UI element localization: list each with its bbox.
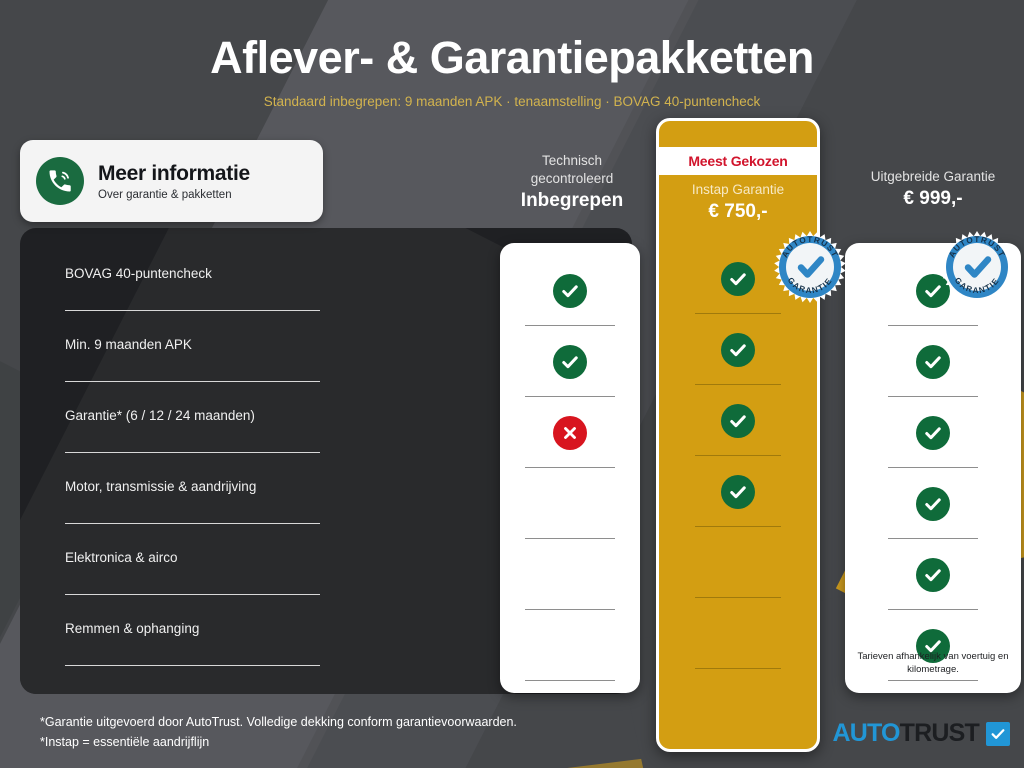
column-header-line1: Instap Garantie — [659, 181, 817, 199]
mark-divider — [695, 597, 781, 599]
mark-row — [845, 476, 1021, 547]
cross-icon — [553, 416, 587, 450]
check-icon — [721, 404, 755, 438]
plan-card-uitgebreide[interactable]: Tarieven afhankelijk van voertuig en kil… — [845, 243, 1021, 693]
mark-divider — [695, 313, 781, 315]
phone-icon — [36, 157, 84, 205]
feature-list: BOVAG 40-puntencheck Min. 9 maanden APK … — [65, 248, 320, 674]
mark-row — [500, 263, 640, 334]
marks-column-technisch — [500, 263, 640, 689]
feature-label: Remmen & ophanging — [65, 621, 199, 636]
footer-line-2: *Instap = essentiële aandrijflijn — [40, 732, 517, 752]
mark-row — [500, 547, 640, 618]
check-icon — [553, 345, 587, 379]
check-icon — [721, 333, 755, 367]
info-card-text: Meer informatie Over garantie & pakkette… — [98, 162, 250, 201]
mark-row — [659, 606, 817, 677]
mark-row — [500, 405, 640, 476]
mark-row — [845, 405, 1021, 476]
mark-divider — [888, 325, 978, 327]
feature-row: Min. 9 maanden APK — [65, 319, 320, 390]
marks-column-instap — [659, 251, 817, 677]
check-icon — [916, 416, 950, 450]
feature-row: Remmen & ophanging — [65, 603, 320, 674]
most-chosen-ribbon: Meest Gekozen — [659, 147, 817, 175]
column-header-price: € 750,- — [659, 201, 817, 223]
feature-row: BOVAG 40-puntencheck — [65, 248, 320, 319]
check-icon — [916, 487, 950, 521]
mark-row — [845, 547, 1021, 618]
mark-row — [845, 334, 1021, 405]
feature-label: BOVAG 40-puntencheck — [65, 266, 212, 281]
column-header-price: Inbegrepen — [492, 190, 652, 212]
feature-row: Motor, transmissie & aandrijving — [65, 461, 320, 532]
mark-divider — [525, 396, 615, 398]
most-chosen-label: Meest Gekozen — [688, 153, 787, 169]
mark-divider — [525, 467, 615, 469]
mark-row — [659, 464, 817, 535]
footer-disclaimer: *Garantie uitgevoerd door AutoTrust. Vol… — [40, 712, 517, 752]
feature-divider — [65, 452, 320, 454]
logo-text-trust: TRUST — [900, 719, 979, 748]
mark-divider — [525, 325, 615, 327]
mark-divider — [888, 467, 978, 469]
feature-label: Motor, transmissie & aandrijving — [65, 479, 256, 494]
footer-line-1: *Garantie uitgevoerd door AutoTrust. Vol… — [40, 712, 517, 732]
mark-divider — [695, 455, 781, 457]
autotrust-garantie-seal-icon: AUTOTRUSTGARANTIE — [939, 229, 1015, 305]
mark-row — [659, 393, 817, 464]
feature-label: Elektronica & airco — [65, 550, 178, 565]
marks-column-uitgebreide — [845, 263, 1021, 689]
check-box-icon — [986, 722, 1010, 746]
mark-divider — [888, 680, 978, 682]
more-information-card[interactable]: Meer informatie Over garantie & pakkette… — [20, 140, 323, 222]
page-header: Aflever- & Garantiepakketten Standaard i… — [0, 0, 1024, 109]
feature-divider — [65, 381, 320, 383]
plan-card-technisch[interactable] — [500, 243, 640, 693]
column-header-line1: Technisch — [492, 152, 652, 170]
mark-row — [500, 618, 640, 689]
feature-row: Elektronica & airco — [65, 532, 320, 603]
page-title: Aflever- & Garantiepakketten — [0, 32, 1024, 84]
feature-label: Garantie* (6 / 12 / 24 maanden) — [65, 408, 255, 423]
mark-divider — [525, 680, 615, 682]
mark-row — [500, 476, 640, 547]
autotrust-garantie-seal-icon: AUTOTRUSTGARANTIE — [772, 229, 848, 305]
mark-divider — [525, 609, 615, 611]
check-icon — [721, 475, 755, 509]
mark-divider — [695, 668, 781, 670]
mark-row — [500, 334, 640, 405]
mark-divider — [888, 538, 978, 540]
info-card-subtitle: Over garantie & pakketten — [98, 189, 250, 201]
check-icon — [721, 262, 755, 296]
column-header-uitgebreide: Uitgebreide Garantie € 999,- — [845, 168, 1021, 210]
feature-label: Min. 9 maanden APK — [65, 337, 192, 352]
plan-footnote: Tarieven afhankelijk van voertuig en kil… — [845, 651, 1021, 677]
check-icon — [916, 558, 950, 592]
column-header-line1: Uitgebreide Garantie — [845, 168, 1021, 186]
mark-divider — [525, 538, 615, 540]
column-header-line2: gecontroleerd — [492, 170, 652, 188]
column-header-technisch: Technisch gecontroleerd Inbegrepen — [492, 152, 652, 212]
page-subtitle: Standaard inbegrepen: 9 maanden APK · te… — [0, 94, 1024, 109]
mark-divider — [888, 396, 978, 398]
column-header-price: € 999,- — [845, 188, 1021, 210]
logo-text-auto: AUTO — [832, 719, 899, 748]
mark-row — [659, 535, 817, 606]
feature-divider — [65, 310, 320, 312]
info-card-title: Meer informatie — [98, 162, 250, 186]
mark-divider — [695, 526, 781, 528]
feature-divider — [65, 665, 320, 667]
check-icon — [916, 345, 950, 379]
feature-divider — [65, 523, 320, 525]
mark-divider — [888, 609, 978, 611]
mark-divider — [695, 384, 781, 386]
column-header-instap: Instap Garantie € 750,- — [659, 181, 817, 223]
check-icon — [553, 274, 587, 308]
feature-row: Garantie* (6 / 12 / 24 maanden) — [65, 390, 320, 461]
mark-row — [659, 322, 817, 393]
plan-card-instap[interactable]: Meest Gekozen Instap Garantie € 750,- — [656, 118, 820, 752]
autotrust-logo: AUTO TRUST — [832, 719, 1010, 748]
feature-divider — [65, 594, 320, 596]
